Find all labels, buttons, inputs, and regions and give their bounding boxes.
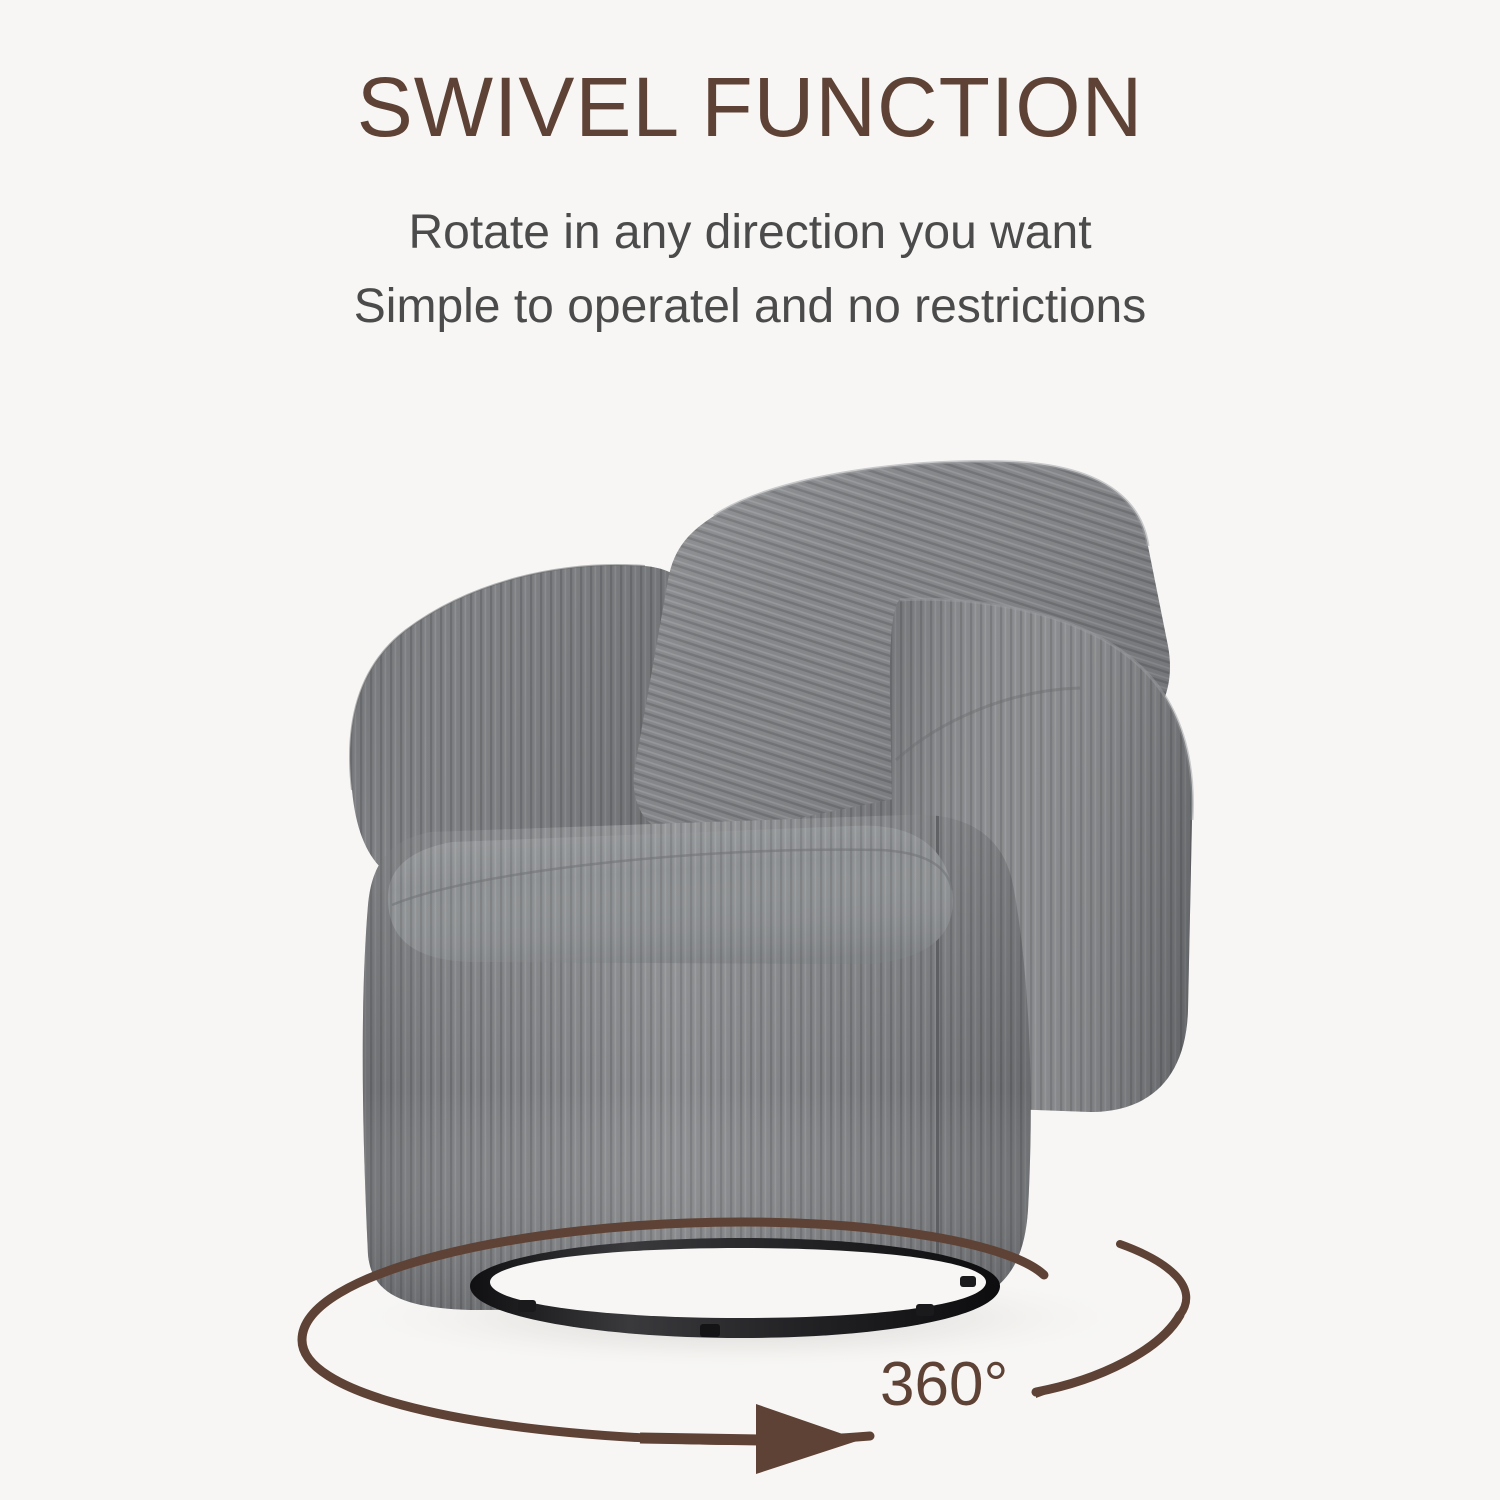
chair-illustration — [0, 0, 1500, 1500]
infographic-canvas: SWIVEL FUNCTION Rotate in any direction … — [0, 0, 1500, 1500]
base-foot — [960, 1276, 976, 1287]
base-foot — [518, 1300, 536, 1312]
product-image-swivel-chair — [0, 0, 1500, 1500]
rotation-arrow-head — [756, 1404, 860, 1474]
base-foot — [916, 1304, 934, 1316]
rotation-arc-tail-upper — [1120, 1244, 1186, 1315]
rotation-degree-label: 360° — [880, 1354, 1120, 1416]
rotation-arrow-shaft — [640, 1438, 760, 1440]
base-foot — [700, 1324, 720, 1337]
